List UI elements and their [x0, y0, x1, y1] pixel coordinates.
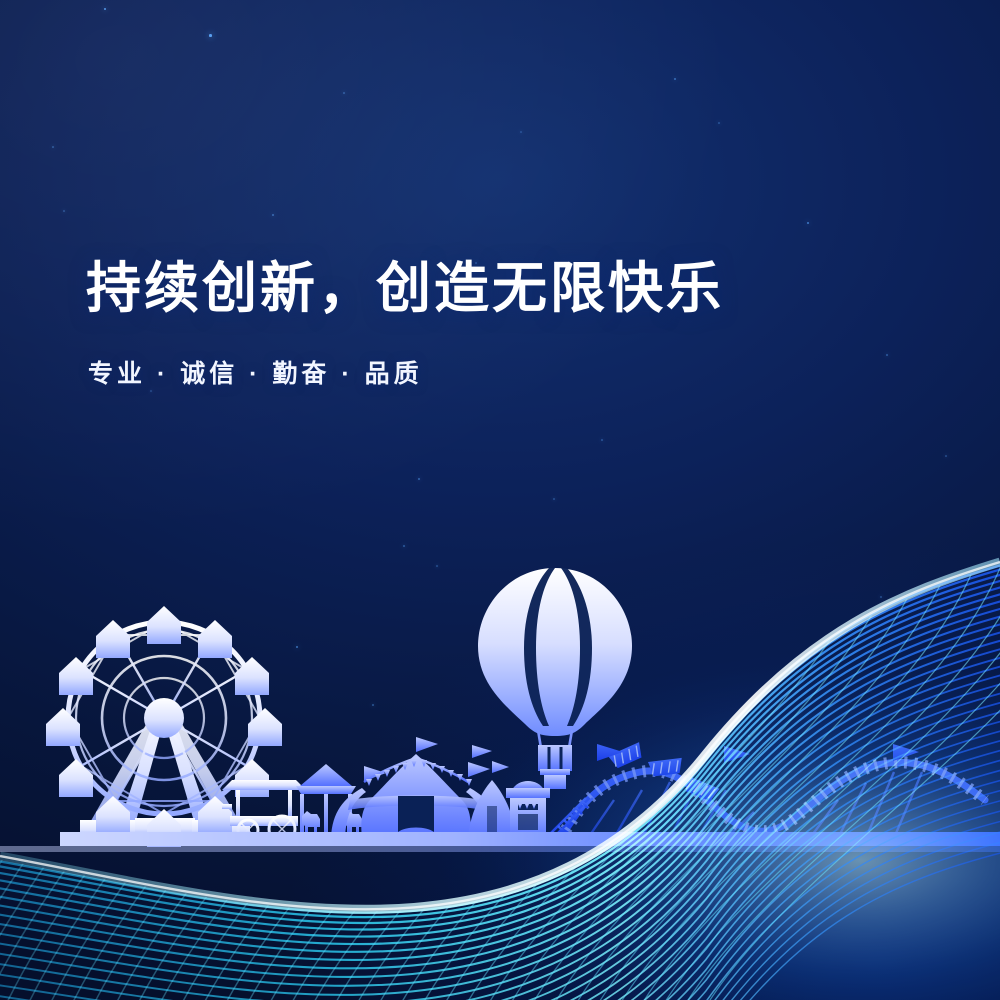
- hero-copy: 持续创新，创造无限快乐专业 · 诚信 · 勤奋 · 品质: [86, 258, 724, 390]
- background-gradient: [0, 0, 1000, 1000]
- subline: 专业 · 诚信 · 勤奋 · 品质: [88, 354, 724, 390]
- banner-stage: 持续创新，创造无限快乐专业 · 诚信 · 勤奋 · 品质: [0, 0, 1000, 1000]
- headline: 持续创新，创造无限快乐: [86, 258, 724, 320]
